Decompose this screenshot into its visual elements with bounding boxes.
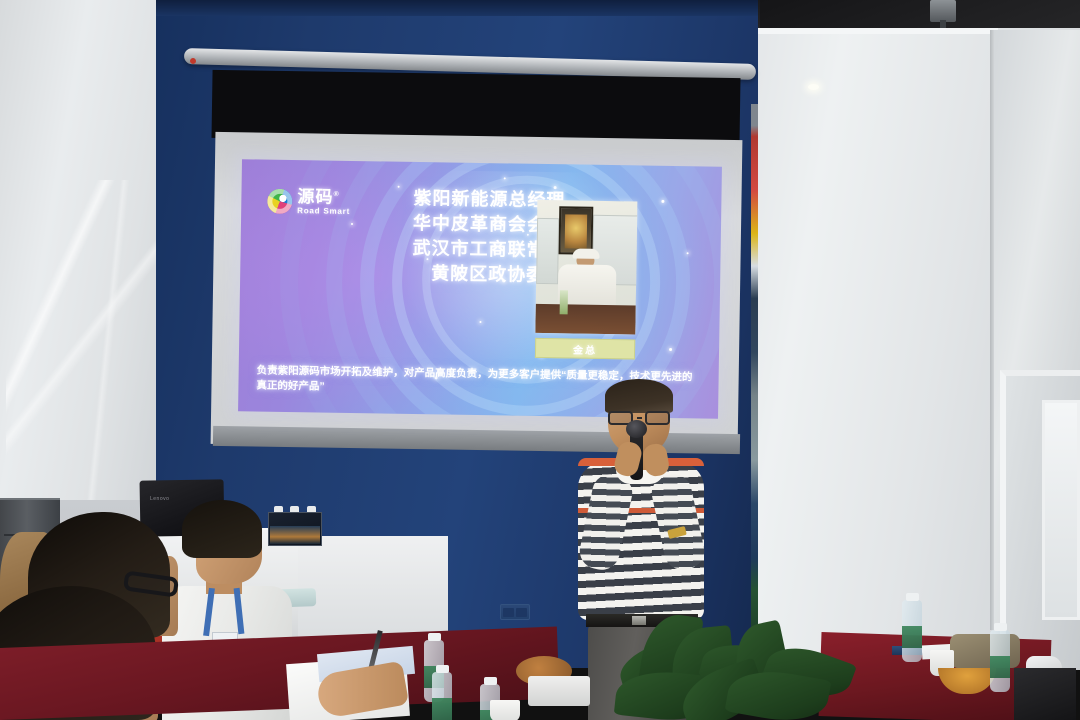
crown-molding — [758, 28, 998, 34]
paper-cup-front — [490, 700, 520, 720]
potted-plant — [616, 598, 846, 720]
water-bottle-back-2 — [990, 630, 1010, 692]
projector-mount — [930, 0, 956, 22]
presentation-room-photo: 源码® Road Smart 紫阳新能源总经理 华中皮革商会会长 武汉市工商联常… — [0, 0, 1080, 720]
tray-front — [528, 676, 590, 706]
microphone-head — [626, 420, 647, 438]
wall-outlet — [500, 604, 530, 620]
left-wall-reflection — [6, 180, 156, 510]
blue-wall-top-edge — [156, 0, 758, 16]
slide-portrait-caption-box: 金总 — [535, 338, 635, 360]
road-smart-logo-icon — [267, 188, 292, 213]
ceiling-downlight — [808, 84, 819, 90]
logo-chinese-name: 源码® — [297, 188, 350, 206]
logo-english-name: Road Smart — [297, 207, 350, 216]
slide-portrait-photo — [535, 200, 637, 335]
slide-portrait-caption: 金总 — [573, 341, 597, 356]
tissue-box — [1014, 668, 1076, 720]
slide-logo: 源码® Road Smart — [267, 182, 378, 222]
water-bottle-back-1 — [902, 600, 922, 662]
window — [1042, 400, 1080, 620]
attendee-hair — [182, 500, 262, 558]
water-bottle-front-2 — [432, 672, 452, 720]
speaker-hair — [605, 379, 673, 413]
